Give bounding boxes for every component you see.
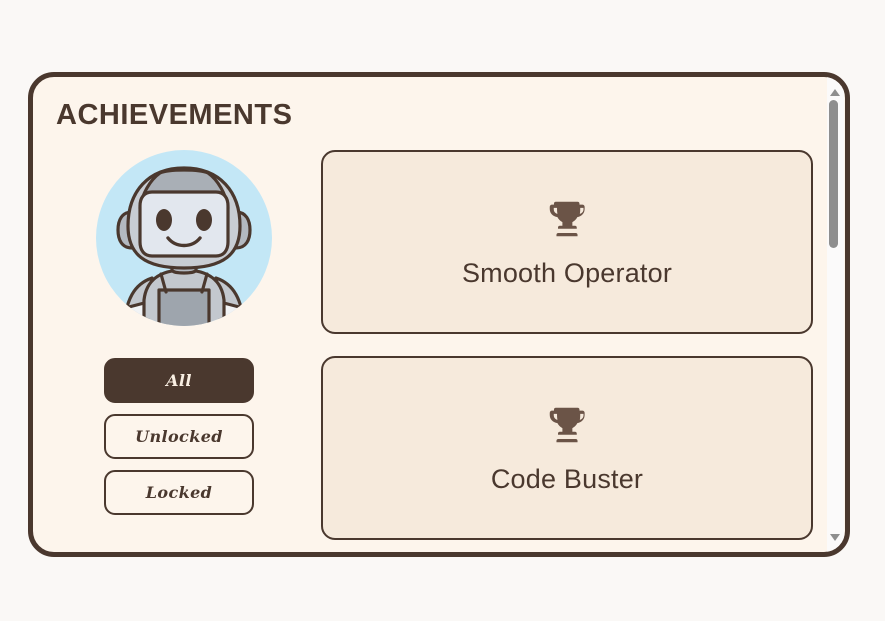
- filter-group: All Unlocked Locked: [104, 358, 254, 526]
- achievements-panel: ACHIEVEMENTS: [28, 72, 850, 557]
- filter-button-locked[interactable]: Locked: [104, 470, 254, 515]
- robot-avatar-icon: [96, 150, 272, 340]
- vertical-scrollbar[interactable]: [827, 77, 844, 552]
- scroll-down-arrow-icon[interactable]: [830, 534, 840, 541]
- achievement-title: Code Buster: [491, 464, 643, 495]
- filter-label: Locked: [146, 483, 213, 502]
- scrollbar-thumb[interactable]: [829, 100, 838, 248]
- achievement-card[interactable]: Smooth Operator: [321, 150, 813, 334]
- filter-label: All: [166, 371, 192, 390]
- achievements-list: Smooth Operator Code Buster: [321, 150, 817, 555]
- filter-button-unlocked[interactable]: Unlocked: [104, 414, 254, 459]
- filter-label: Unlocked: [135, 427, 223, 446]
- page-title: ACHIEVEMENTS: [56, 99, 292, 132]
- profile-column: [88, 150, 271, 340]
- achievement-title: Smooth Operator: [462, 258, 672, 289]
- scroll-up-arrow-icon[interactable]: [830, 89, 840, 96]
- avatar: [88, 150, 271, 340]
- achievement-card[interactable]: Code Buster: [321, 356, 813, 540]
- trophy-icon: [544, 402, 590, 452]
- app-root: ACHIEVEMENTS: [0, 0, 885, 621]
- filter-button-all[interactable]: All: [104, 358, 254, 403]
- trophy-icon: [544, 196, 590, 246]
